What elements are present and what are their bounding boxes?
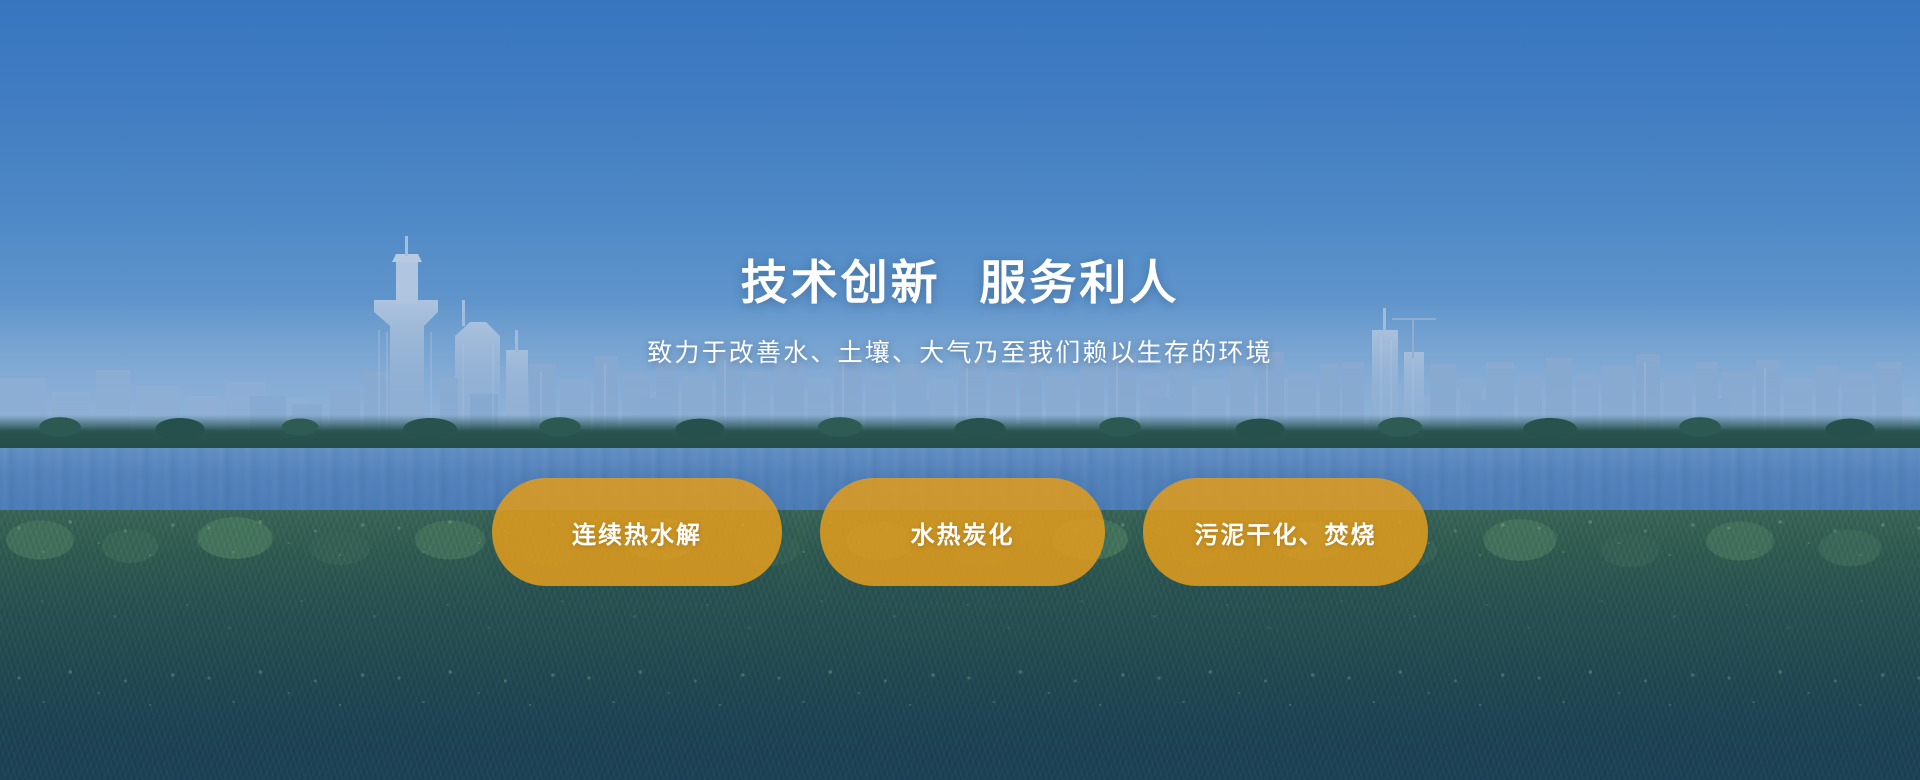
hero-content: 技术创新 服务利人 致力于改善水、土壤、大气乃至我们赖以生存的环境 (0, 0, 1920, 780)
service-button-sludge-drying-incineration[interactable]: 污泥干化、焚烧 (1143, 478, 1428, 586)
hero-subheadline: 致力于改善水、土壤、大气乃至我们赖以生存的环境 (647, 333, 1273, 369)
service-button-row: 连续热水解 水热炭化 污泥干化、焚烧 (0, 478, 1920, 586)
hero-headline: 技术创新 服务利人 (741, 258, 1180, 310)
service-button-hydrothermal-carbonization[interactable]: 水热炭化 (820, 478, 1105, 586)
service-button-continuous-thermal-hydrolysis[interactable]: 连续热水解 (492, 478, 782, 586)
hero-banner: 技术创新 服务利人 致力于改善水、土壤、大气乃至我们赖以生存的环境 连续热水解 … (0, 0, 1920, 780)
